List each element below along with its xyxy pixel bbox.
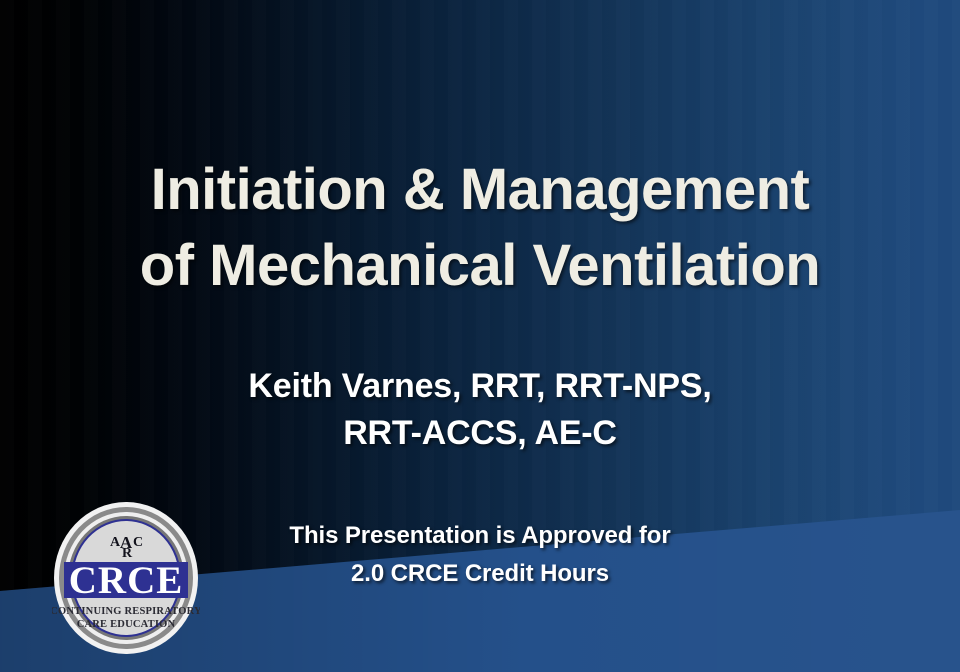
svg-text:CONTINUING RESPIRATORY: CONTINUING RESPIRATORY xyxy=(52,606,200,617)
presenter-name-line-2: RRT-ACCS, AE-C xyxy=(0,410,960,457)
presenter-name-line-1: Keith Varnes, RRT, RRT-NPS, xyxy=(0,363,960,410)
presenter-name: Keith Varnes, RRT, RRT-NPS, RRT-ACCS, AE… xyxy=(0,363,960,457)
svg-text:CRCE: CRCE xyxy=(69,559,184,602)
svg-text:C: C xyxy=(133,535,143,550)
svg-text:A: A xyxy=(110,535,121,550)
presentation-slide: Initiation & Management of Mechanical Ve… xyxy=(0,0,960,672)
svg-text:CARE EDUCATION: CARE EDUCATION xyxy=(77,619,176,630)
crce-logo: A A C R CRCE CONTINUING RESPIRATORY CARE… xyxy=(52,500,200,656)
slide-title: Initiation & Management of Mechanical Ve… xyxy=(0,152,960,304)
slide-title-line-1: Initiation & Management xyxy=(0,152,960,228)
slide-title-line-2: of Mechanical Ventilation xyxy=(0,228,960,304)
